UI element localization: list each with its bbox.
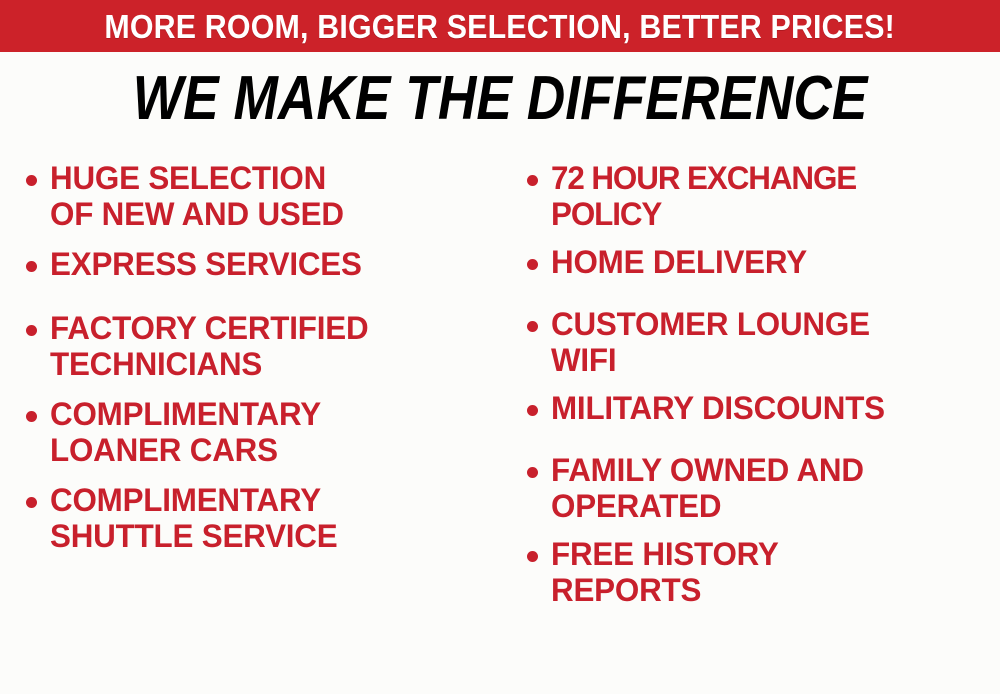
- list-item: EXPRESS SERVICES: [14, 246, 500, 282]
- list-item: FACTORY CERTIFIED TECHNICIANS: [14, 310, 500, 382]
- bullet-dot-icon: [26, 497, 37, 508]
- bullet-dot-icon: [527, 259, 538, 270]
- list-item-label: MILITARY DISCOUNTS: [551, 390, 991, 426]
- list-item: COMPLIMENTARY LOANER CARS: [14, 396, 500, 468]
- list-item-label: FREE HISTORY REPORTS: [551, 536, 991, 608]
- list-item-label: HOME DELIVERY: [551, 244, 991, 280]
- bullet-dot-icon: [527, 175, 538, 186]
- list-item: FAMILY OWNED AND OPERATED: [515, 452, 1000, 524]
- feature-columns: HUGE SELECTION OF NEW AND USED EXPRESS S…: [0, 160, 1000, 694]
- list-item: MILITARY DISCOUNTS: [515, 390, 1000, 426]
- bullet-dot-icon: [527, 405, 538, 416]
- promotional-banner: MORE ROOM, BIGGER SELECTION, BETTER PRIC…: [0, 0, 1000, 694]
- bullet-dot-icon: [26, 261, 37, 272]
- bullet-dot-icon: [527, 321, 538, 332]
- list-item: HUGE SELECTION OF NEW AND USED: [14, 160, 500, 232]
- list-item-label: COMPLIMENTARY SHUTTLE SERVICE: [50, 482, 491, 554]
- list-item-label: 72 HOUR EXCHANGE POLICY: [551, 160, 991, 232]
- list-item: CUSTOMER LOUNGE WIFI: [515, 306, 1000, 378]
- list-item-label: FACTORY CERTIFIED TECHNICIANS: [50, 310, 491, 382]
- bullet-dot-icon: [26, 325, 37, 336]
- list-item: 72 HOUR EXCHANGE POLICY: [515, 160, 1000, 232]
- bullet-dot-icon: [527, 551, 538, 562]
- bullet-dot-icon: [26, 175, 37, 186]
- list-item-label: HUGE SELECTION OF NEW AND USED: [50, 160, 491, 232]
- list-item: HOME DELIVERY: [515, 244, 1000, 280]
- list-item-label: FAMILY OWNED AND OPERATED: [551, 452, 991, 524]
- main-headline: WE MAKE THE DIFFERENCE: [0, 68, 1000, 130]
- list-item-label: EXPRESS SERVICES: [50, 246, 491, 282]
- list-item: COMPLIMENTARY SHUTTLE SERVICE: [14, 482, 500, 554]
- bullet-dot-icon: [527, 467, 538, 478]
- top-banner-text: MORE ROOM, BIGGER SELECTION, BETTER PRIC…: [105, 10, 896, 43]
- top-banner-strip: MORE ROOM, BIGGER SELECTION, BETTER PRIC…: [0, 0, 1000, 52]
- feature-column-left: HUGE SELECTION OF NEW AND USED EXPRESS S…: [14, 160, 500, 568]
- list-item-label: CUSTOMER LOUNGE WIFI: [551, 306, 991, 378]
- feature-column-right: 72 HOUR EXCHANGE POLICY HOME DELIVERY CU…: [515, 160, 1000, 620]
- bullet-dot-icon: [26, 411, 37, 422]
- list-item-label: COMPLIMENTARY LOANER CARS: [50, 396, 491, 468]
- main-headline-text: WE MAKE THE DIFFERENCE: [133, 68, 868, 130]
- list-item: FREE HISTORY REPORTS: [515, 536, 1000, 608]
